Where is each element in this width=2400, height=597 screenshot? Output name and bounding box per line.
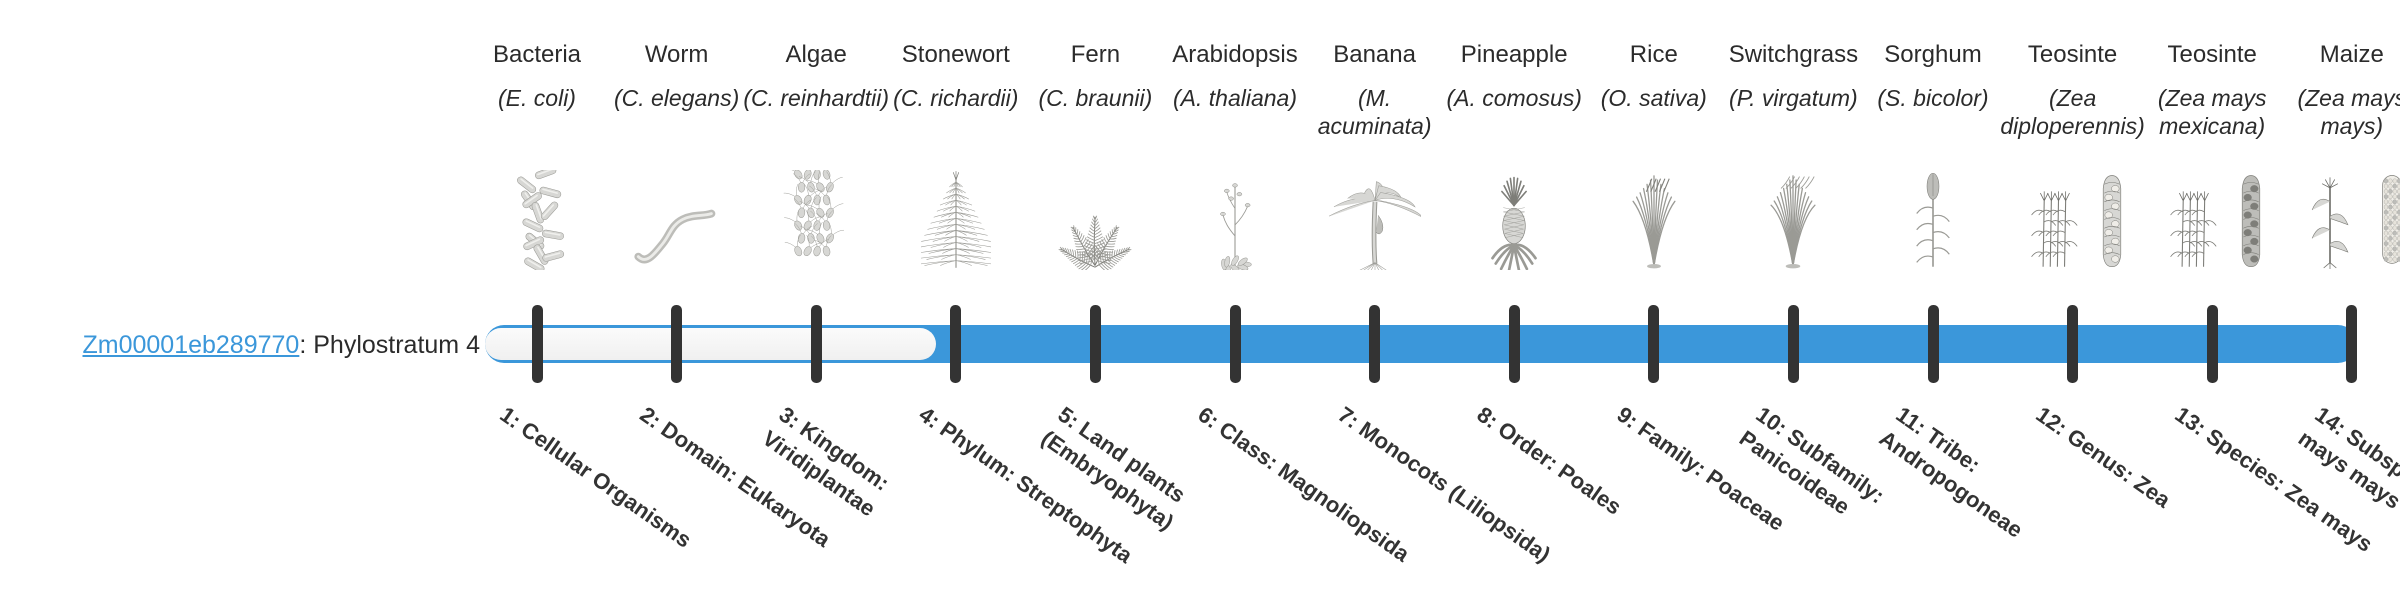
- sorghum-icon: [1858, 170, 2008, 270]
- rank-text: Family: Poaceae: [1633, 416, 1789, 535]
- teosinte-diplo-icon: [1998, 170, 2148, 270]
- rank-text: Species: Zea mays: [2202, 423, 2378, 556]
- species-column-pineapple-7: Pineapple(A. comosus): [1439, 40, 1589, 112]
- species-scientific-name: (C. elegans): [602, 84, 752, 112]
- rank-label-2: 2: Domain: Eukaryota: [634, 400, 864, 573]
- rank-text: Class: Magnoliopsida: [1215, 416, 1415, 566]
- species-column-fern-4: Fern(C. braunii): [1020, 40, 1170, 112]
- phylostratum-tick-14[interactable]: [2346, 305, 2357, 383]
- phylostratum-bar-unfilled: [485, 328, 936, 360]
- rank-label-3: 3: Kingdom: Viridiplantae: [757, 400, 1003, 597]
- rice-icon: [1579, 170, 1729, 270]
- label-separator: :: [299, 331, 313, 359]
- rank-text: Land plants (Embryophyta): [1037, 416, 1190, 535]
- species-column-teosinte-11: Teosinte(Zea diploperennis): [1998, 40, 2148, 140]
- rank-number: 9:: [1612, 402, 1642, 434]
- phylostratum-tick-1[interactable]: [532, 305, 543, 383]
- rank-text: Phylum: Streptophyta: [935, 416, 1137, 568]
- rank-label-1: 1: Cellular Organisms: [494, 400, 724, 573]
- phylostratum-tick-2[interactable]: [671, 305, 682, 383]
- phylostratum-tick-6[interactable]: [1230, 305, 1241, 383]
- species-scientific-name: (Zea mays mays): [2277, 84, 2400, 140]
- phylostratum-tick-8[interactable]: [1509, 305, 1520, 383]
- species-scientific-name: (S. bicolor): [1858, 84, 2008, 112]
- rank-text: Tribe: Andropogoneae: [1875, 423, 2028, 543]
- species-scientific-name: (C. richardii): [881, 84, 1031, 112]
- species-scientific-name: (A. comosus): [1439, 84, 1589, 112]
- rank-text: Kingdom: Viridiplantae: [758, 416, 894, 521]
- rank-number: 3:: [775, 402, 805, 434]
- rank-number: 8:: [1473, 402, 1503, 434]
- species-scientific-name: (E. coli): [462, 84, 612, 112]
- arabidopsis-icon: [1160, 170, 1310, 270]
- rank-text: Order: Poales: [1494, 416, 1627, 519]
- rank-text: Monocots (Liliopsida): [1354, 416, 1555, 567]
- rank-label-9: 9: Family: Poaceae: [1611, 400, 1841, 573]
- rank-label-10: 10: Subfamily: Panicoideae: [1734, 400, 1980, 597]
- species-column-sorghum-10: Sorghum(S. bicolor): [1858, 40, 2008, 112]
- rank-number: 4:: [914, 402, 944, 434]
- algae-icon: [741, 170, 891, 270]
- phylostratum-tick-5[interactable]: [1090, 305, 1101, 383]
- phylostratum-tick-11[interactable]: [1928, 305, 1939, 383]
- species-common-name: Teosinte: [2137, 40, 2287, 70]
- rank-text: Subfamily: Panicoideae: [1735, 423, 1889, 519]
- rank-text: Subspecies: Zea mays mays: [2294, 423, 2400, 543]
- rank-label-6: 6: Class: Magnoliopsida: [1192, 400, 1422, 573]
- rank-label-11: 11: Tribe: Andropogoneae: [1874, 400, 2120, 597]
- species-scientific-name: (Zea diploperennis): [1998, 84, 2148, 140]
- rank-number: 6:: [1194, 402, 1224, 434]
- species-scientific-name: (A. thaliana): [1160, 84, 1310, 112]
- rank-number: 11:: [1892, 402, 1931, 440]
- species-common-name: Algae: [741, 40, 891, 70]
- species-common-name: Pineapple: [1439, 40, 1589, 70]
- phylostratum-chart: Zm00001eb289770: Phylostratum 4 Bacteria…: [0, 0, 2400, 580]
- species-common-name: Switchgrass: [1718, 40, 1868, 70]
- rank-number: 2:: [635, 402, 665, 434]
- species-column-worm-1: Worm(C. elegans): [602, 40, 752, 112]
- rank-number: 1:: [496, 402, 526, 434]
- gene-phylostratum-text: : Phylostratum 4: [299, 331, 480, 359]
- species-common-name: Maize: [2277, 40, 2400, 70]
- rank-number: 13:: [2171, 402, 2211, 441]
- species-scientific-name: (C. reinhardtii): [741, 84, 891, 112]
- species-scientific-name: (P. virgatum): [1718, 84, 1868, 112]
- rank-label-5: 5: Land plants (Embryophyta): [1036, 400, 1282, 597]
- maize-icon: [2277, 170, 2400, 270]
- species-column-bacteria-0: Bacteria(E. coli): [462, 40, 612, 112]
- switchgrass-icon: [1718, 170, 1868, 270]
- species-column-teosinte-12: Teosinte(Zea mays mexicana): [2137, 40, 2287, 140]
- species-column-stonewort-3: Stonewort(C. richardii): [881, 40, 1031, 112]
- species-common-name: Bacteria: [462, 40, 612, 70]
- rank-label-12: 12: Genus: Zea: [2030, 400, 2260, 573]
- species-scientific-name: (C. braunii): [1020, 84, 1170, 112]
- rank-text: Genus: Zea: [2062, 423, 2174, 512]
- rank-text: Cellular Organisms: [517, 416, 697, 552]
- pineapple-icon: [1439, 170, 1589, 270]
- rank-label-13: 13: Species: Zea mays: [2170, 400, 2400, 573]
- rank-number: 7:: [1333, 402, 1363, 434]
- species-column-algae-2: Algae(C. reinhardtii): [741, 40, 891, 112]
- species-column-maize-13: Maize(Zea mays mays): [2277, 40, 2400, 140]
- phylostratum-tick-13[interactable]: [2207, 305, 2218, 383]
- species-common-name: Banana: [1300, 40, 1450, 70]
- species-common-name: Fern: [1020, 40, 1170, 70]
- teosinte-mex-icon: [2137, 170, 2287, 270]
- gene-id-link[interactable]: Zm00001eb289770: [82, 331, 299, 359]
- species-common-name: Stonewort: [881, 40, 1031, 70]
- banana-icon: [1300, 170, 1450, 270]
- rank-number: 5:: [1054, 402, 1084, 434]
- species-column-banana-6: Banana(M. acuminata): [1300, 40, 1450, 140]
- species-column-switchgrass-9: Switchgrass(P. virgatum): [1718, 40, 1868, 112]
- gene-phylostratum-label: Zm00001eb289770: Phylostratum 4: [40, 330, 480, 360]
- species-scientific-name: (Zea mays mexicana): [2137, 84, 2287, 140]
- phylostratum-value-text: Phylostratum 4: [313, 331, 480, 359]
- species-scientific-name: (O. sativa): [1579, 84, 1729, 112]
- phylostratum-tick-12[interactable]: [2067, 305, 2078, 383]
- worm-icon: [602, 170, 752, 270]
- phylostratum-tick-7[interactable]: [1369, 305, 1380, 383]
- rank-label-8: 8: Order: Poales: [1472, 400, 1702, 573]
- phylostratum-tick-9[interactable]: [1648, 305, 1659, 383]
- species-scientific-name: (M. acuminata): [1300, 84, 1450, 140]
- species-column-rice-8: Rice(O. sativa): [1579, 40, 1729, 112]
- phylostratum-tick-10[interactable]: [1788, 305, 1799, 383]
- species-column-arabidopsis-5: Arabidopsis(A. thaliana): [1160, 40, 1310, 112]
- phylostratum-tick-3[interactable]: [811, 305, 822, 383]
- species-common-name: Sorghum: [1858, 40, 2008, 70]
- rank-number: 10:: [1752, 402, 1792, 441]
- rank-label-4: 4: Phylum: Streptophyta: [913, 400, 1143, 573]
- rank-label-14: 14: Subspecies: Zea mays mays: [2293, 400, 2400, 597]
- stonewort-icon: [881, 170, 1031, 270]
- rank-number: 14:: [2310, 402, 2350, 441]
- species-common-name: Worm: [602, 40, 752, 70]
- rank-number: 12:: [2031, 402, 2071, 441]
- species-common-name: Rice: [1579, 40, 1729, 70]
- rank-label-7: 7: Monocots (Liliopsida): [1332, 400, 1562, 573]
- species-common-name: Arabidopsis: [1160, 40, 1310, 70]
- phylostratum-tick-4[interactable]: [950, 305, 961, 383]
- fern-icon: [1020, 170, 1170, 270]
- bacteria-icon: [462, 170, 612, 270]
- species-common-name: Teosinte: [1998, 40, 2148, 70]
- rank-text: Domain: Eukaryota: [656, 416, 835, 551]
